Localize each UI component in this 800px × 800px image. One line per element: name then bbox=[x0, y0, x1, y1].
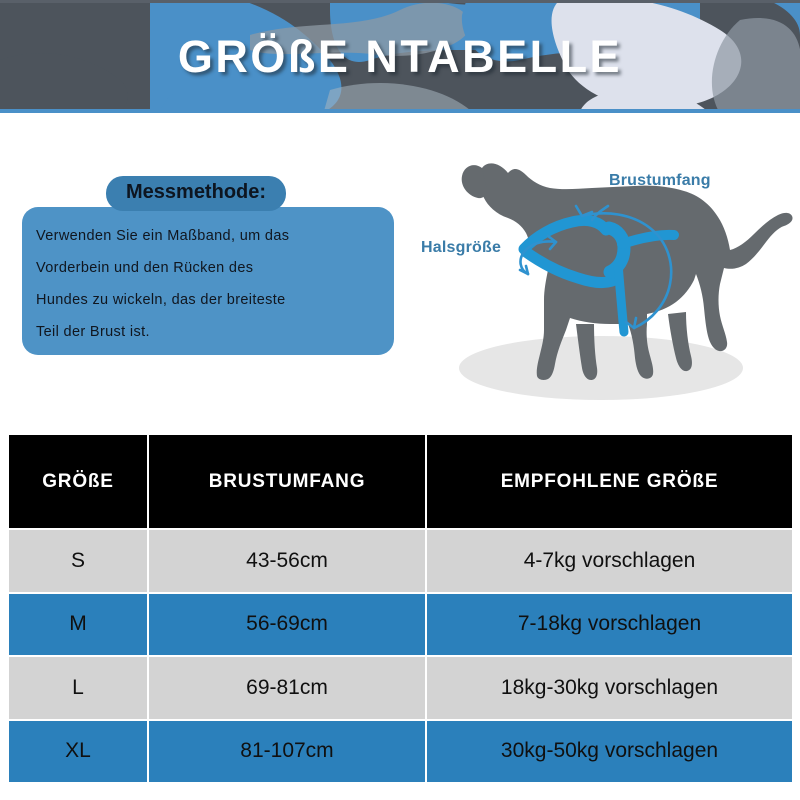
label-halsgroesse: Halsgröße bbox=[421, 239, 501, 257]
table-row: XL 81-107cm 30kg-50kg vorschlagen bbox=[8, 720, 793, 784]
info-line: Teil der Brust ist. bbox=[36, 316, 380, 348]
cell-weight: 18kg-30kg vorschlagen bbox=[426, 656, 793, 720]
info-line: Vorderbein und den Rücken des bbox=[36, 252, 380, 284]
ground-shadow-ellipse bbox=[459, 336, 743, 400]
table-header-row: GRÖßE BRUSTUMFANG EMPFOHLENE GRÖßE bbox=[8, 434, 793, 529]
measurement-method-box: Messmethode: Verwenden Sie ein Maßband, … bbox=[22, 207, 394, 355]
cell-size: M bbox=[8, 593, 148, 657]
dog-illustration bbox=[396, 118, 800, 418]
cell-size: XL bbox=[8, 720, 148, 784]
table-row: S 43-56cm 4-7kg vorschlagen bbox=[8, 529, 793, 593]
size-chart-page: GRÖßE NTABELLE Messmethode: Verwenden Si… bbox=[0, 0, 800, 800]
cell-weight: 30kg-50kg vorschlagen bbox=[426, 720, 793, 784]
label-brustumfang: Brustumfang bbox=[609, 172, 711, 190]
cell-chest: 43-56cm bbox=[148, 529, 426, 593]
measurement-method-tab-label: Messmethode: bbox=[106, 176, 286, 211]
column-header-size: GRÖßE bbox=[8, 434, 148, 529]
cell-chest: 56-69cm bbox=[148, 593, 426, 657]
cell-size: S bbox=[8, 529, 148, 593]
page-title: GRÖßE NTABELLE bbox=[0, 0, 800, 113]
info-line: Hundes zu wickeln, das der breiteste bbox=[36, 284, 380, 316]
column-header-recommended: EMPFOHLENE GRÖßE bbox=[426, 434, 793, 529]
cell-weight: 4-7kg vorschlagen bbox=[426, 529, 793, 593]
size-table: GRÖßE BRUSTUMFANG EMPFOHLENE GRÖßE S 43-… bbox=[7, 433, 794, 784]
dog-measurement-diagram: Brustumfang Halsgröße bbox=[396, 118, 800, 418]
table-row: L 69-81cm 18kg-30kg vorschlagen bbox=[8, 656, 793, 720]
measurement-method-text: Verwenden Sie ein Maßband, um das Vorder… bbox=[22, 220, 394, 348]
header-banner: GRÖßE NTABELLE bbox=[0, 0, 800, 113]
cell-chest: 81-107cm bbox=[148, 720, 426, 784]
cell-weight: 7-18kg vorschlagen bbox=[426, 593, 793, 657]
cell-chest: 69-81cm bbox=[148, 656, 426, 720]
cell-size: L bbox=[8, 656, 148, 720]
info-line: Verwenden Sie ein Maßband, um das bbox=[36, 220, 380, 252]
column-header-chest: BRUSTUMFANG bbox=[148, 434, 426, 529]
table-row: M 56-69cm 7-18kg vorschlagen bbox=[8, 593, 793, 657]
